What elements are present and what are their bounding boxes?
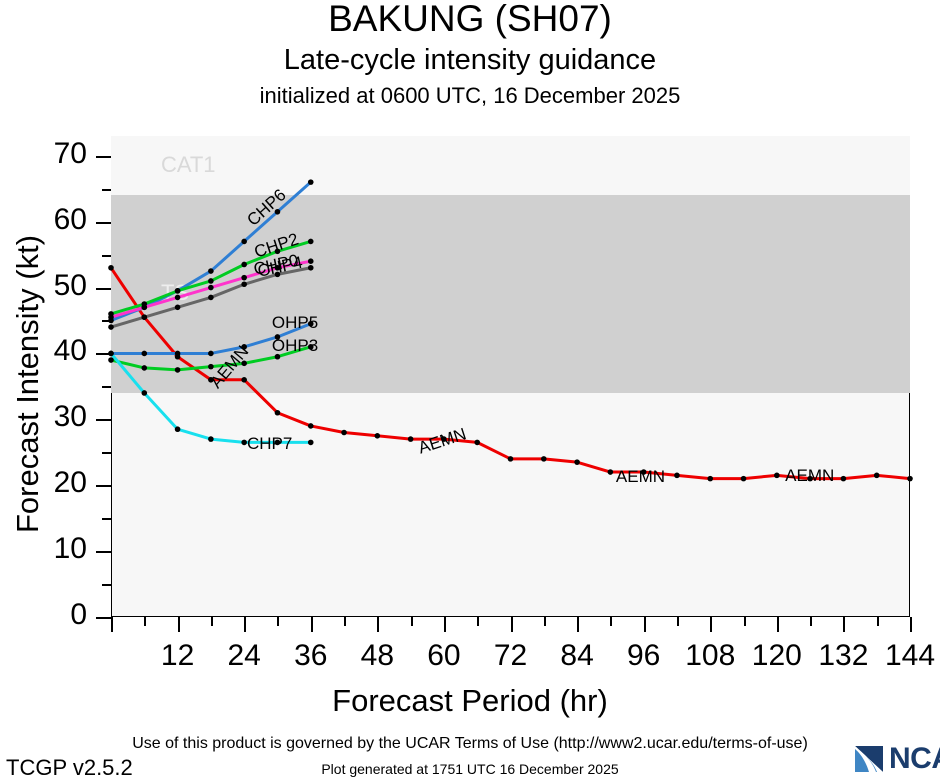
- series-point-ohp5: [141, 351, 147, 357]
- series-point-chp7: [108, 351, 114, 357]
- series-point-aemn: [241, 377, 247, 383]
- series-point-chp7: [208, 436, 214, 442]
- y-tick: [96, 288, 111, 290]
- chart-subtitle: Late-cycle intensity guidance: [0, 44, 940, 77]
- series-point-chp0: [241, 281, 247, 287]
- series-point-aemn: [741, 476, 747, 482]
- y-tick-label: 30: [27, 400, 87, 434]
- series-point-aemn: [308, 423, 314, 429]
- y-tick: [96, 617, 111, 619]
- series-point-aemn: [907, 476, 913, 482]
- y-tick-label: 40: [27, 334, 87, 368]
- y-tick: [102, 189, 111, 191]
- series-point-aemn: [541, 456, 547, 462]
- y-tick: [96, 551, 111, 553]
- series-point-aemn: [874, 473, 880, 479]
- series-point-chp4: [208, 285, 214, 291]
- series-point-chp4: [108, 314, 114, 320]
- series-point-chp0: [208, 295, 214, 301]
- series-point-chp4: [308, 258, 314, 264]
- series-point-chp6: [241, 239, 247, 245]
- y-tick-label: 10: [27, 532, 87, 566]
- series-point-chp2: [241, 262, 247, 268]
- y-tick: [96, 156, 111, 158]
- y-tick: [102, 518, 111, 520]
- series-label-ohp3: OHP3: [272, 336, 318, 356]
- series-point-aemn: [674, 473, 680, 479]
- y-tick: [96, 222, 111, 224]
- series-point-chp7: [308, 440, 314, 446]
- y-tick-label: 60: [27, 203, 87, 237]
- x-axis-label: Forecast Period (hr): [0, 683, 940, 719]
- series-point-ohp3: [108, 357, 114, 363]
- series-point-chp7: [175, 426, 181, 432]
- series-point-ohp3: [208, 364, 214, 370]
- plot-generated-text: Plot generated at 1751 UTC 16 December 2…: [0, 761, 940, 777]
- series-point-aemn: [508, 456, 514, 462]
- series-point-chp6: [208, 268, 214, 274]
- y-tick: [96, 419, 111, 421]
- series-point-chp2: [175, 288, 181, 294]
- y-tick-label: 70: [27, 137, 87, 171]
- series-point-chp7: [141, 390, 147, 396]
- y-tick-label: 50: [27, 269, 87, 303]
- series-label-ohp5: OHP5: [272, 313, 318, 333]
- series-point-chp0: [308, 265, 314, 271]
- y-tick: [102, 386, 111, 388]
- series-point-aemn: [275, 410, 281, 416]
- series-point-chp2: [208, 278, 214, 284]
- series-point-aemn: [375, 433, 381, 439]
- plot-area: TSCAT1 010203040506070 12243648607284961…: [111, 136, 910, 617]
- series-point-aemn: [608, 469, 614, 475]
- series-point-chp4: [241, 275, 247, 281]
- series-point-ohp3: [141, 365, 147, 371]
- series-point-aemn: [341, 430, 347, 436]
- y-tick-label: 0: [27, 598, 87, 632]
- series-point-aemn: [574, 459, 580, 465]
- series-point-aemn: [841, 476, 847, 482]
- series-point-chp6: [308, 179, 314, 185]
- terms-of-use-text: Use of this product is governed by the U…: [0, 735, 940, 753]
- series-point-aemn: [108, 265, 114, 271]
- series-label-chp7: CHP7: [247, 434, 292, 454]
- series-point-aemn: [707, 476, 713, 482]
- page-title: BAKUNG (SH07): [0, 0, 940, 40]
- ncar-logo: NCAR: [853, 744, 940, 778]
- ncar-logo-text: NCAR: [889, 742, 940, 776]
- series-point-chp0: [141, 314, 147, 320]
- series-point-ohp5: [208, 351, 214, 357]
- series-label-aemn: AEMN: [616, 467, 665, 487]
- chart-init-time: initialized at 0600 UTC, 16 December 202…: [0, 83, 940, 109]
- series-label-aemn: AEMN: [785, 466, 834, 486]
- series-point-aemn: [774, 473, 780, 479]
- chart-page: BAKUNG (SH07) Late-cycle intensity guida…: [0, 0, 940, 780]
- y-tick-label: 20: [27, 466, 87, 500]
- series-point-ohp5: [175, 351, 181, 357]
- series-point-ohp3: [175, 367, 181, 373]
- series-point-aemn: [408, 436, 414, 442]
- y-tick: [102, 584, 111, 586]
- series-point-chp4: [175, 295, 181, 301]
- ncar-logo-icon: [853, 744, 887, 774]
- y-tick: [96, 485, 111, 487]
- version-text: TCGP v2.5.2: [6, 755, 133, 781]
- series-point-aemn: [474, 440, 480, 446]
- series-point-chp0: [108, 324, 114, 330]
- series-point-chp4: [141, 305, 147, 311]
- x-tick-label: 144: [865, 639, 940, 673]
- y-tick: [102, 255, 111, 257]
- series-point-chp2: [308, 239, 314, 245]
- y-tick: [102, 452, 111, 454]
- series-point-chp0: [175, 305, 181, 311]
